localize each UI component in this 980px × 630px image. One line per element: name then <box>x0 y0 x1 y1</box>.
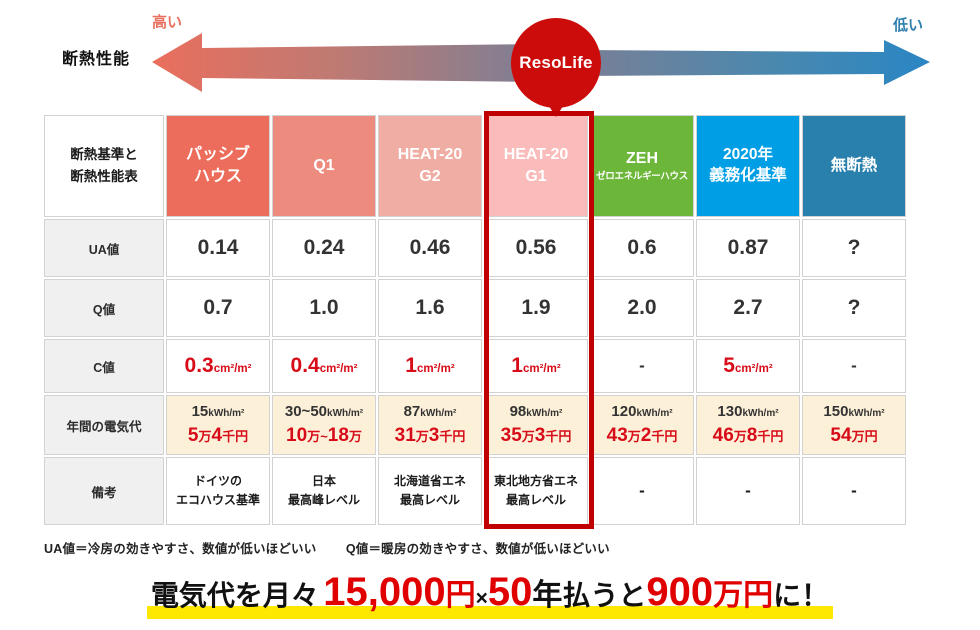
col-name-l2: ハウス <box>194 168 242 185</box>
cell-ua-zeh: 0.6 <box>590 219 694 277</box>
banner-year-unit: 年 <box>532 579 562 612</box>
row-label-ua: UA値 <box>44 219 164 277</box>
cell-note-g1: 東北地方省エネ最高レベル <box>484 457 588 525</box>
column-header-passive-house: パッシブ ハウス <box>166 115 270 217</box>
corner-line2: 断熱性能表 <box>45 166 163 188</box>
cell-note-2020: - <box>696 457 800 525</box>
banner-text-2: 払うと <box>562 580 646 611</box>
cell-ua-g2: 0.46 <box>378 219 482 277</box>
table-row-ua: UA値 0.14 0.24 0.46 0.56 0.6 0.87 ? <box>44 219 906 277</box>
cell-ua-none: ? <box>802 219 906 277</box>
cell-c-2020: 5cm²/m² <box>696 339 800 393</box>
cell-c-q1: 0.4cm²/m² <box>272 339 376 393</box>
cell-ua-passive: 0.14 <box>166 219 270 277</box>
banner-highlight: 電気代を月々 15,000円×50年払うと900万円に！ <box>147 570 833 619</box>
cell-note-passive: ドイツのエコハウス基準 <box>166 457 270 525</box>
cell-note-q1: 日本最高峰レベル <box>272 457 376 525</box>
cell-q-g2: 1.6 <box>378 279 482 337</box>
row-label-q: Q値 <box>44 279 164 337</box>
col-name-l1: ZEH <box>626 150 658 167</box>
left-arrow-icon <box>152 33 545 92</box>
insulation-comparison-table: 断熱基準と 断熱性能表 パッシブ ハウス Q1 HEAT-20 G2 HEAT-… <box>42 113 908 527</box>
banner-amount: 15,000 <box>323 570 445 614</box>
cell-q-q1: 1.0 <box>272 279 376 337</box>
cell-c-none: - <box>802 339 906 393</box>
cell-q-g1: 1.9 <box>484 279 588 337</box>
table-header-row: 断熱基準と 断熱性能表 パッシブ ハウス Q1 HEAT-20 G2 HEAT-… <box>44 115 906 217</box>
cell-ua-2020: 0.87 <box>696 219 800 277</box>
low-label: 低い <box>893 14 923 35</box>
cell-cost-g1: 98kWh/m²35万3千円 <box>484 395 588 455</box>
resolife-badge-label: ResoLife <box>519 53 592 73</box>
performance-arrows <box>0 0 980 105</box>
cell-cost-none: 150kWh/m²54万円 <box>802 395 906 455</box>
column-header-heat20-g2: HEAT-20 G2 <box>378 115 482 217</box>
row-label-c: C値 <box>44 339 164 393</box>
cell-cost-passive: 15kWh/m²5万4千円 <box>166 395 270 455</box>
cell-ua-q1: 0.24 <box>272 219 376 277</box>
cell-cost-g2: 87kWh/m²31万3千円 <box>378 395 482 455</box>
row-label-annual-cost: 年間の電気代 <box>44 395 164 455</box>
row-label-remarks: 備考 <box>44 457 164 525</box>
banner-text-3: に！ <box>773 580 829 611</box>
cell-c-zeh: - <box>590 339 694 393</box>
column-header-heat20-g1: HEAT-20 G1 <box>484 115 588 217</box>
col-name-l1: Q1 <box>313 157 334 174</box>
cell-ua-g1: 0.56 <box>484 219 588 277</box>
col-name-l1: 2020年 <box>723 146 773 163</box>
banner-total: 900 <box>646 570 713 614</box>
column-header-2020-standard: 2020年 義務化基準 <box>696 115 800 217</box>
insulation-performance-label: 断熱性能 <box>62 45 130 69</box>
banner-text-1: 電気代を月々 <box>151 580 319 611</box>
bottom-banner: 電気代を月々 15,000円×50年払うと900万円に！ <box>0 570 980 619</box>
col-name-l2: G1 <box>525 168 546 185</box>
col-name-l1: HEAT-20 <box>504 146 569 163</box>
col-name-l2: G2 <box>419 168 440 185</box>
col-name-l1: 無断熱 <box>831 157 878 174</box>
cell-cost-2020: 130kWh/m²46万8千円 <box>696 395 800 455</box>
footnote-q: Q値＝暖房の効きやすさ、数値が低いほどいい <box>346 542 610 556</box>
table-row-c: C値 0.3cm²/m² 0.4cm²/m² 1cm²/m² 1cm²/m² -… <box>44 339 906 393</box>
cell-q-none: ? <box>802 279 906 337</box>
banner-yen-unit: 円 <box>446 579 476 612</box>
table-row-remarks: 備考 ドイツのエコハウス基準 日本最高峰レベル 北海道省エネ最高レベル 東北地方… <box>44 457 906 525</box>
cell-cost-q1: 30~50kWh/m²10万~18万 <box>272 395 376 455</box>
column-header-q1: Q1 <box>272 115 376 217</box>
insulation-performance-arrow-band: 断熱性能 高い 低い ResoLife <box>0 0 980 105</box>
col-name-l1: パッシブ <box>186 146 250 163</box>
footnote: UA値＝冷房の効きやすさ、数値が低いほどいい Q値＝暖房の効きやすさ、数値が低い… <box>44 538 610 557</box>
cell-q-2020: 2.7 <box>696 279 800 337</box>
banner-years: 50 <box>488 570 533 614</box>
banner-total-unit: 万円 <box>713 579 773 612</box>
cell-q-passive: 0.7 <box>166 279 270 337</box>
table-row-q: Q値 0.7 1.0 1.6 1.9 2.0 2.7 ? <box>44 279 906 337</box>
cell-c-g1: 1cm²/m² <box>484 339 588 393</box>
cell-note-none: - <box>802 457 906 525</box>
cell-c-g2: 1cm²/m² <box>378 339 482 393</box>
cell-q-zeh: 2.0 <box>590 279 694 337</box>
high-label: 高い <box>152 11 182 32</box>
corner-line1: 断熱基準と <box>45 144 163 166</box>
column-header-no-insulation: 無断熱 <box>802 115 906 217</box>
col-subtitle: ゼロエネルギーハウス <box>591 170 693 184</box>
cell-note-g2: 北海道省エネ最高レベル <box>378 457 482 525</box>
column-header-zeh: ZEH ゼロエネルギーハウス <box>590 115 694 217</box>
cell-c-passive: 0.3cm²/m² <box>166 339 270 393</box>
right-arrow-icon <box>580 40 930 85</box>
table-row-annual-cost: 年間の電気代 15kWh/m²5万4千円 30~50kWh/m²10万~18万 … <box>44 395 906 455</box>
cell-note-zeh: - <box>590 457 694 525</box>
cell-cost-zeh: 120kWh/m²43万2千円 <box>590 395 694 455</box>
resolife-badge: ResoLife <box>511 18 601 108</box>
footnote-ua: UA値＝冷房の効きやすさ、数値が低いほどいい <box>44 542 316 556</box>
col-name-l1: HEAT-20 <box>398 146 463 163</box>
col-name-l2: 義務化基準 <box>709 167 787 184</box>
banner-times-icon: × <box>476 587 488 610</box>
table-corner-cell: 断熱基準と 断熱性能表 <box>44 115 164 217</box>
